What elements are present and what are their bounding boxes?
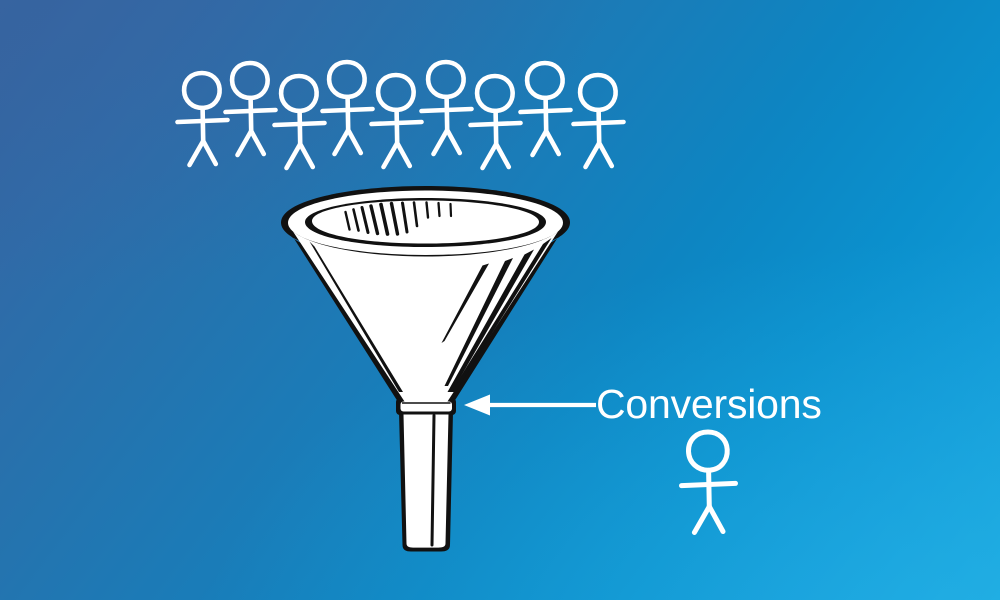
converted-stick-figure	[682, 432, 736, 533]
funnel-artwork	[0, 0, 1000, 600]
pointer-arrow	[464, 395, 596, 416]
conversions-label: Conversions	[596, 384, 822, 425]
illustration-canvas: Conversions	[0, 0, 1000, 600]
stick-figure-crowd	[178, 62, 624, 168]
funnel-shape	[281, 186, 570, 552]
